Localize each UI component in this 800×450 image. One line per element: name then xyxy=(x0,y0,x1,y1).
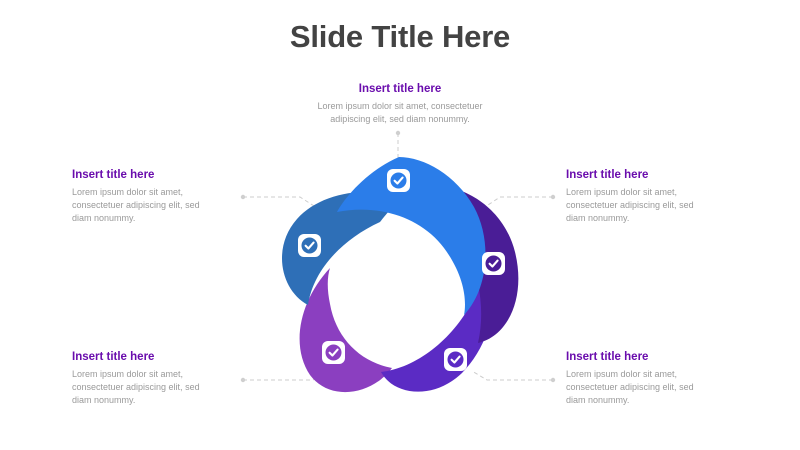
callout-right-bottom-body: Lorem ipsum dolor sit amet, consectetuer… xyxy=(566,368,721,407)
connector-dot-left-top xyxy=(241,195,245,199)
callout-top-body-line1: Lorem ipsum dolor sit amet, consectetuer xyxy=(280,100,520,113)
segment-badge-bottom-left[interactable] xyxy=(322,341,345,364)
callout-left-bottom-title: Insert title here xyxy=(72,350,222,364)
segment-badge-left[interactable] xyxy=(298,234,321,257)
callout-top: Insert title here Lorem ipsum dolor sit … xyxy=(280,82,520,126)
callout-right-bottom-body-line2: consectetuer adipiscing elit, sed xyxy=(566,381,721,394)
check-icon xyxy=(486,256,502,272)
pinwheel-segment-bottom-right[interactable] xyxy=(381,258,496,392)
pinwheel-segment-top[interactable] xyxy=(337,157,485,315)
callout-right-top-body-line2: consectetuer adipiscing elit, sed xyxy=(566,199,721,212)
check-icon xyxy=(448,352,464,368)
pinwheel-segment-left[interactable] xyxy=(282,192,404,305)
segment-badge-right[interactable] xyxy=(482,252,505,275)
callout-right-bottom: Insert title here Lorem ipsum dolor sit … xyxy=(566,350,721,408)
connector-dot-top xyxy=(396,131,400,135)
callout-left-bottom-body-line3: diam nonummy. xyxy=(72,394,222,407)
callout-left-top-body: Lorem ipsum dolor sit amet, consectetuer… xyxy=(72,186,222,225)
pinwheel-segment-right[interactable] xyxy=(432,185,518,343)
callout-top-body-line2: adipiscing elit, sed diam nonummy. xyxy=(280,113,520,126)
callout-right-top-body-line1: Lorem ipsum dolor sit amet, xyxy=(566,186,721,199)
callout-left-top: Insert title here Lorem ipsum dolor sit … xyxy=(72,168,222,226)
connector-endpoint-dots xyxy=(241,131,555,382)
callout-left-bottom-body-line1: Lorem ipsum dolor sit amet, xyxy=(72,368,222,381)
callout-right-bottom-body-line1: Lorem ipsum dolor sit amet, xyxy=(566,368,721,381)
pinwheel-segment-bottom-left[interactable] xyxy=(300,268,392,392)
check-icon xyxy=(302,238,318,254)
connector-right-top xyxy=(476,197,553,213)
callout-left-bottom: Insert title here Lorem ipsum dolor sit … xyxy=(72,350,222,408)
callout-top-body: Lorem ipsum dolor sit amet, consectetuer… xyxy=(280,100,520,126)
connector-left-bottom xyxy=(243,371,329,380)
callout-right-top: Insert title here Lorem ipsum dolor sit … xyxy=(566,168,721,226)
callout-left-top-body-line3: diam nonummy. xyxy=(72,212,222,225)
connector-dot-right-bottom xyxy=(551,378,555,382)
callout-top-title: Insert title here xyxy=(280,82,520,96)
connector-dot-right-top xyxy=(551,195,555,199)
callout-right-bottom-title: Insert title here xyxy=(566,350,721,364)
callout-left-top-title: Insert title here xyxy=(72,168,222,182)
connector-left-top xyxy=(243,197,325,213)
segment-badge-top[interactable] xyxy=(387,169,410,192)
page-title: Slide Title Here xyxy=(0,20,800,54)
check-icon xyxy=(326,345,342,361)
callout-right-top-body: Lorem ipsum dolor sit amet, consectetuer… xyxy=(566,186,721,225)
callout-left-top-body-line1: Lorem ipsum dolor sit amet, xyxy=(72,186,222,199)
connector-dot-left-bottom xyxy=(241,378,245,382)
callout-right-bottom-body-line3: diam nonummy. xyxy=(566,394,721,407)
callout-right-top-body-line3: diam nonummy. xyxy=(566,212,721,225)
connector-lines xyxy=(243,133,553,380)
callout-left-bottom-body: Lorem ipsum dolor sit amet, consectetuer… xyxy=(72,368,222,407)
connector-right-bottom xyxy=(472,371,553,380)
callout-left-top-body-line2: consectetuer adipiscing elit, sed xyxy=(72,199,222,212)
segment-badge-bottom-right[interactable] xyxy=(444,348,467,371)
check-icon xyxy=(391,173,407,189)
callout-right-top-title: Insert title here xyxy=(566,168,721,182)
callout-left-bottom-body-line2: consectetuer adipiscing elit, sed xyxy=(72,381,222,394)
